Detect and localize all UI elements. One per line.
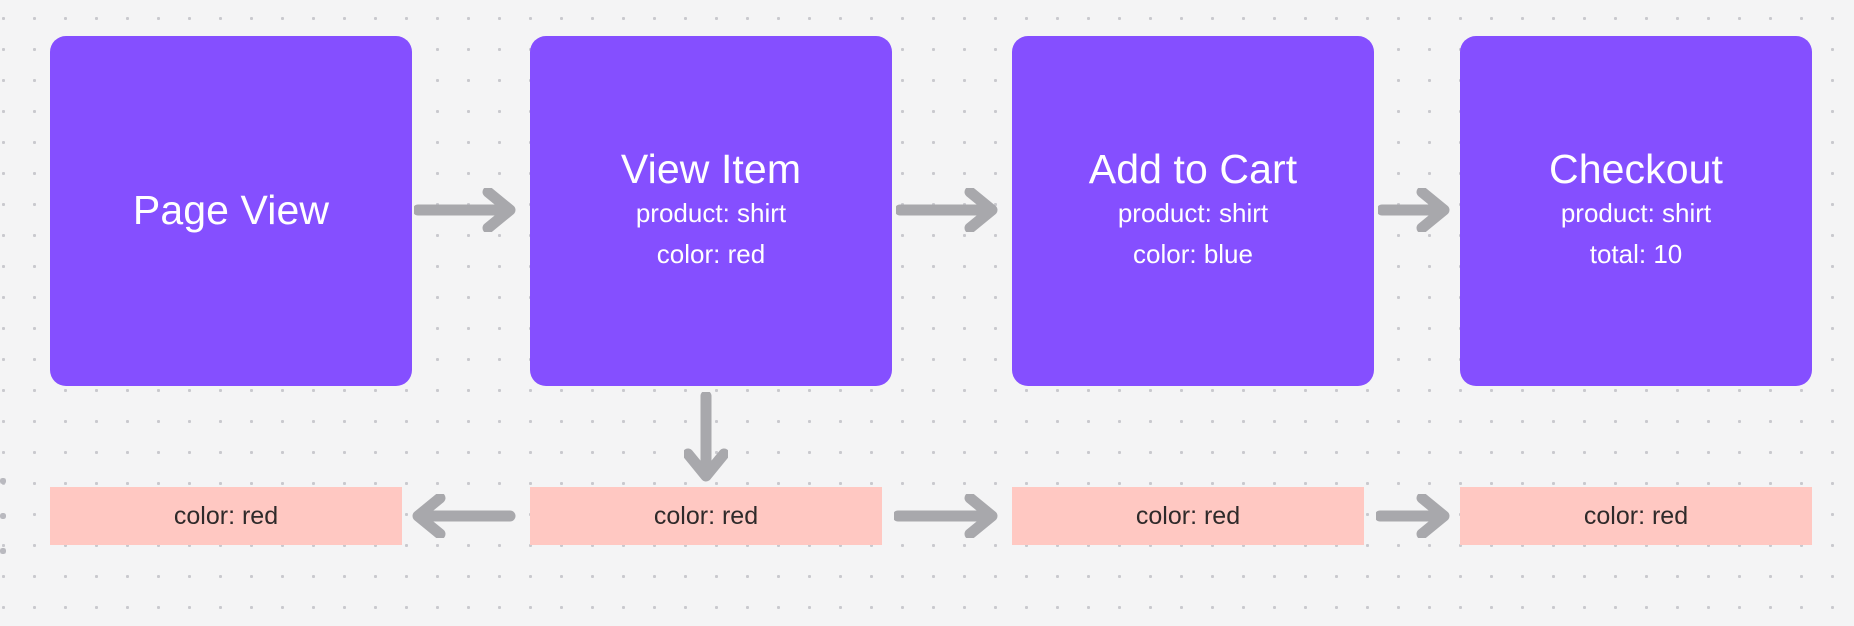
variable-box-label: color: red — [1136, 502, 1240, 531]
connector-page-view-to-view-item[interactable] — [414, 188, 518, 232]
event-node-property: product: shirt — [1561, 193, 1711, 234]
event-node-page-view[interactable]: Page View — [50, 36, 412, 386]
event-node-property: product: shirt — [636, 193, 786, 234]
event-node-view-item[interactable]: View Item product: shirt color: red — [530, 36, 892, 386]
variable-box[interactable]: color: red — [1460, 487, 1812, 545]
event-node-title: Page View — [133, 188, 329, 234]
event-node-add-to-cart[interactable]: Add to Cart product: shirt color: blue — [1012, 36, 1374, 386]
variable-box[interactable]: color: red — [50, 487, 402, 545]
event-node-title: View Item — [621, 147, 801, 193]
connector-variable-3-to-variable-4[interactable] — [1376, 494, 1452, 538]
event-node-title: Checkout — [1549, 147, 1723, 193]
variable-box-label: color: red — [1584, 502, 1688, 531]
connector-view-item-to-add-to-cart[interactable] — [896, 188, 1000, 232]
connector-view-item-to-variable[interactable] — [684, 392, 728, 484]
flow-canvas[interactable]: Page View View Item product: shirt color… — [0, 0, 1854, 626]
event-node-property: product: shirt — [1118, 193, 1268, 234]
event-node-title: Add to Cart — [1089, 147, 1297, 193]
variable-box-label: color: red — [654, 502, 758, 531]
connector-variable-2-to-variable-3[interactable] — [894, 494, 1000, 538]
event-node-property: total: 10 — [1590, 234, 1683, 275]
event-node-checkout[interactable]: Checkout product: shirt total: 10 — [1460, 36, 1812, 386]
variable-box-label: color: red — [174, 502, 278, 531]
variable-box[interactable]: color: red — [1012, 487, 1364, 545]
connector-variable-2-to-variable-1[interactable] — [410, 494, 516, 538]
variable-box[interactable]: color: red — [530, 487, 882, 545]
connector-add-to-cart-to-checkout[interactable] — [1378, 188, 1452, 232]
event-node-property: color: red — [657, 234, 765, 275]
event-node-property: color: blue — [1133, 234, 1253, 275]
